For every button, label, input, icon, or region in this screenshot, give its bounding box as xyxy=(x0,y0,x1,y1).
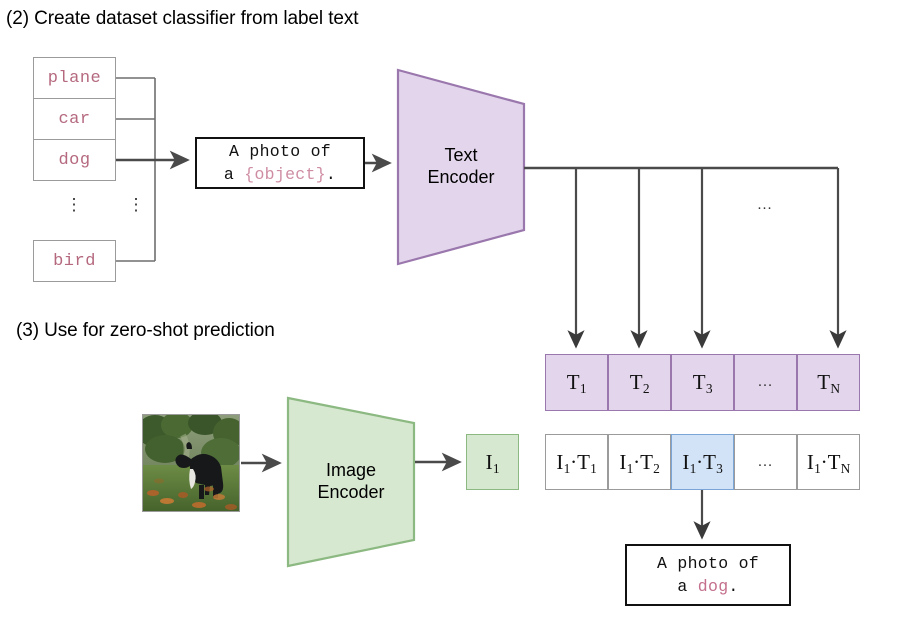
prompt-line-2-suffix: . xyxy=(326,165,336,184)
cell-label: I1·T2 xyxy=(619,450,659,475)
text-embedding-cell-3[interactable]: T3 xyxy=(671,354,734,411)
text-embedding-drop-wires xyxy=(576,168,838,346)
image-encoder-block[interactable]: Image Encoder xyxy=(286,396,416,568)
image-encoder-line-2: Encoder xyxy=(317,482,384,502)
cell-label: I1·TN xyxy=(807,450,850,475)
label-column-ellipsis: ⋮ xyxy=(61,196,87,213)
similarity-cell-n[interactable]: I1·TN xyxy=(797,434,860,490)
cell-label: T3 xyxy=(693,370,713,395)
prompt-line-1: A photo of xyxy=(229,140,331,163)
cell-label: T2 xyxy=(630,370,650,395)
input-photo-thumbnail[interactable] xyxy=(142,414,240,512)
label-text: dog xyxy=(58,151,90,170)
label-box-plane[interactable]: plane xyxy=(33,57,116,99)
similarity-cell-ellipsis: … xyxy=(734,434,797,490)
text-bus-ellipsis: … xyxy=(745,195,785,215)
cell-label: … xyxy=(758,454,774,471)
text-encoder-line-1: Text xyxy=(444,145,477,165)
label-text: bird xyxy=(53,252,96,271)
ellipsis-label: … xyxy=(757,197,773,214)
label-box-car[interactable]: car xyxy=(33,98,116,140)
cell-label: I1·T1 xyxy=(556,450,596,475)
similarity-cell-2[interactable]: I1·T2 xyxy=(608,434,671,490)
text-encoder-label: Text Encoder xyxy=(427,145,494,189)
label-box-dog[interactable]: dog xyxy=(33,139,116,181)
cell-label: TN xyxy=(817,370,840,395)
diagram-canvas: (2) Create dataset classifier from label… xyxy=(0,0,906,624)
prompt-template-box[interactable]: A photo of a {object}. xyxy=(195,137,365,189)
prediction-class-token: dog xyxy=(698,577,729,596)
text-embedding-cell-1[interactable]: T1 xyxy=(545,354,608,411)
section-heading-step-3: (3) Use for zero-shot prediction xyxy=(16,320,275,342)
cell-label: T1 xyxy=(567,370,587,395)
prediction-output-box[interactable]: A photo of a dog. xyxy=(625,544,791,606)
label-bus-ellipsis: ⋮ xyxy=(123,196,149,213)
text-embedding-cell-n[interactable]: TN xyxy=(797,354,860,411)
similarity-cell-3-selected[interactable]: I1·T3 xyxy=(671,434,734,490)
label-merge-wires xyxy=(116,78,155,261)
prompt-line-2-prefix: a xyxy=(224,165,244,184)
image-encoder-line-1: Image xyxy=(326,460,376,480)
prediction-line-2: a dog. xyxy=(677,575,738,598)
text-embedding-cell-ellipsis: … xyxy=(734,354,797,411)
similarity-cell-1[interactable]: I1·T1 xyxy=(545,434,608,490)
prompt-line-2: a {object}. xyxy=(224,163,336,186)
label-box-bird[interactable]: bird xyxy=(33,240,116,282)
section-heading-step-2: (2) Create dataset classifier from label… xyxy=(6,8,358,30)
text-encoder-block[interactable]: Text Encoder xyxy=(396,68,526,266)
cell-label: I1·T3 xyxy=(682,450,722,475)
label-text: car xyxy=(58,110,90,129)
cell-label: I1 xyxy=(486,450,500,475)
prompt-object-token: {object} xyxy=(244,165,326,184)
image-encoder-label: Image Encoder xyxy=(317,460,384,504)
cell-label: … xyxy=(758,374,774,391)
prediction-line-2-prefix: a xyxy=(677,577,697,596)
label-text: plane xyxy=(48,69,102,88)
text-encoder-line-2: Encoder xyxy=(427,167,494,187)
photo-image xyxy=(143,415,239,511)
text-embedding-cell-2[interactable]: T2 xyxy=(608,354,671,411)
prediction-line-2-suffix: . xyxy=(728,577,738,596)
prediction-line-1: A photo of xyxy=(657,552,759,575)
image-embedding-cell[interactable]: I1 xyxy=(466,434,519,490)
